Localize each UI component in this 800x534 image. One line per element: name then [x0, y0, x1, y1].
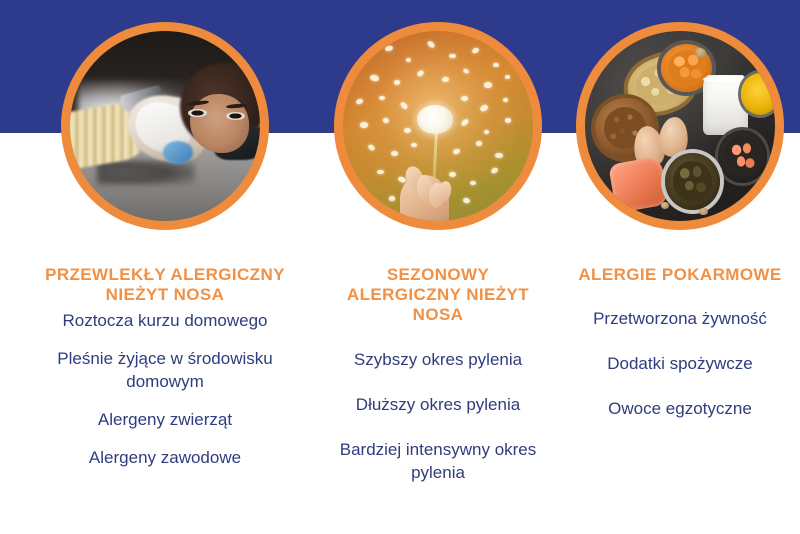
allergen-list-2: Szybszy okres pylenia Dłuższy okres pyle… [328, 348, 548, 484]
list-item: Alergeny zawodowe [30, 446, 300, 469]
dust-mite-cleaning-photo [70, 31, 260, 221]
photo-ring-3 [576, 22, 784, 230]
list-item: Bardziej intensywny okres pylenia [328, 438, 548, 484]
allergy-types-infographic: PRZEWLEKŁY ALERGICZNY NIEŻYT NOSA Roztoc… [0, 0, 800, 534]
photo-mussel-texture [673, 161, 713, 202]
photo-shrimp-plate [718, 130, 767, 183]
photo-egg [657, 115, 690, 158]
allergenic-foods-photo [585, 31, 775, 221]
column-heading-2: SEZONOWY ALERGICZNY NIEŻYT NOSA [333, 265, 543, 325]
allergy-column-seasonal-rhinitis: SEZONOWY ALERGICZNY NIEŻYT NOSA Szybszy … [323, 0, 553, 484]
columns-container: PRZEWLEKŁY ALERGICZNY NIEŻYT NOSA Roztoc… [0, 0, 800, 534]
photo-seed [661, 202, 669, 209]
list-item: Przetworzona żywność [568, 307, 793, 330]
photo-mustard-jar [741, 73, 775, 115]
list-item: Roztocza kurzu domowego [30, 309, 300, 332]
list-item: Pleśnie żyjące w środowisku domowym [30, 347, 300, 393]
list-item: Dłuższy okres pylenia [328, 393, 548, 416]
photo-eye-right [226, 112, 245, 121]
photo-shrimp-texture [724, 136, 762, 176]
photo-salmon-fillet [608, 156, 669, 214]
photo-dust-pile [97, 160, 196, 185]
dandelion-pollen-photo [343, 31, 533, 221]
photo-dandelion-head [417, 105, 453, 134]
column-heading-3: ALERGIE POKARMOWE [573, 265, 788, 285]
photo-ring-1 [61, 22, 269, 230]
allergen-list-3: Przetworzona żywność Dodatki spożywcze O… [568, 307, 793, 420]
list-item: Dodatki spożywcze [568, 352, 793, 375]
list-item: Alergeny zwierząt [30, 408, 300, 431]
photo-ring-2 [334, 22, 542, 230]
photo-seed [699, 208, 708, 216]
photo-milk-surface [703, 75, 749, 85]
allergen-list-1: Roztocza kurzu domowego Pleśnie żyjące w… [30, 309, 300, 469]
list-item: Szybszy okres pylenia [328, 348, 548, 371]
photo-mussels-bowl [665, 153, 720, 210]
photo-milk-glass [703, 75, 749, 136]
column-heading-1: PRZEWLEKŁY ALERGICZNY NIEŻYT NOSA [40, 265, 290, 305]
allergy-column-food-allergies: ALERGIE POKARMOWE Przetworzona żywność D… [565, 0, 795, 420]
allergy-column-chronic-rhinitis: PRZEWLEKŁY ALERGICZNY NIEŻYT NOSA Roztoc… [20, 0, 310, 469]
list-item: Owoce egzotyczne [568, 397, 793, 420]
